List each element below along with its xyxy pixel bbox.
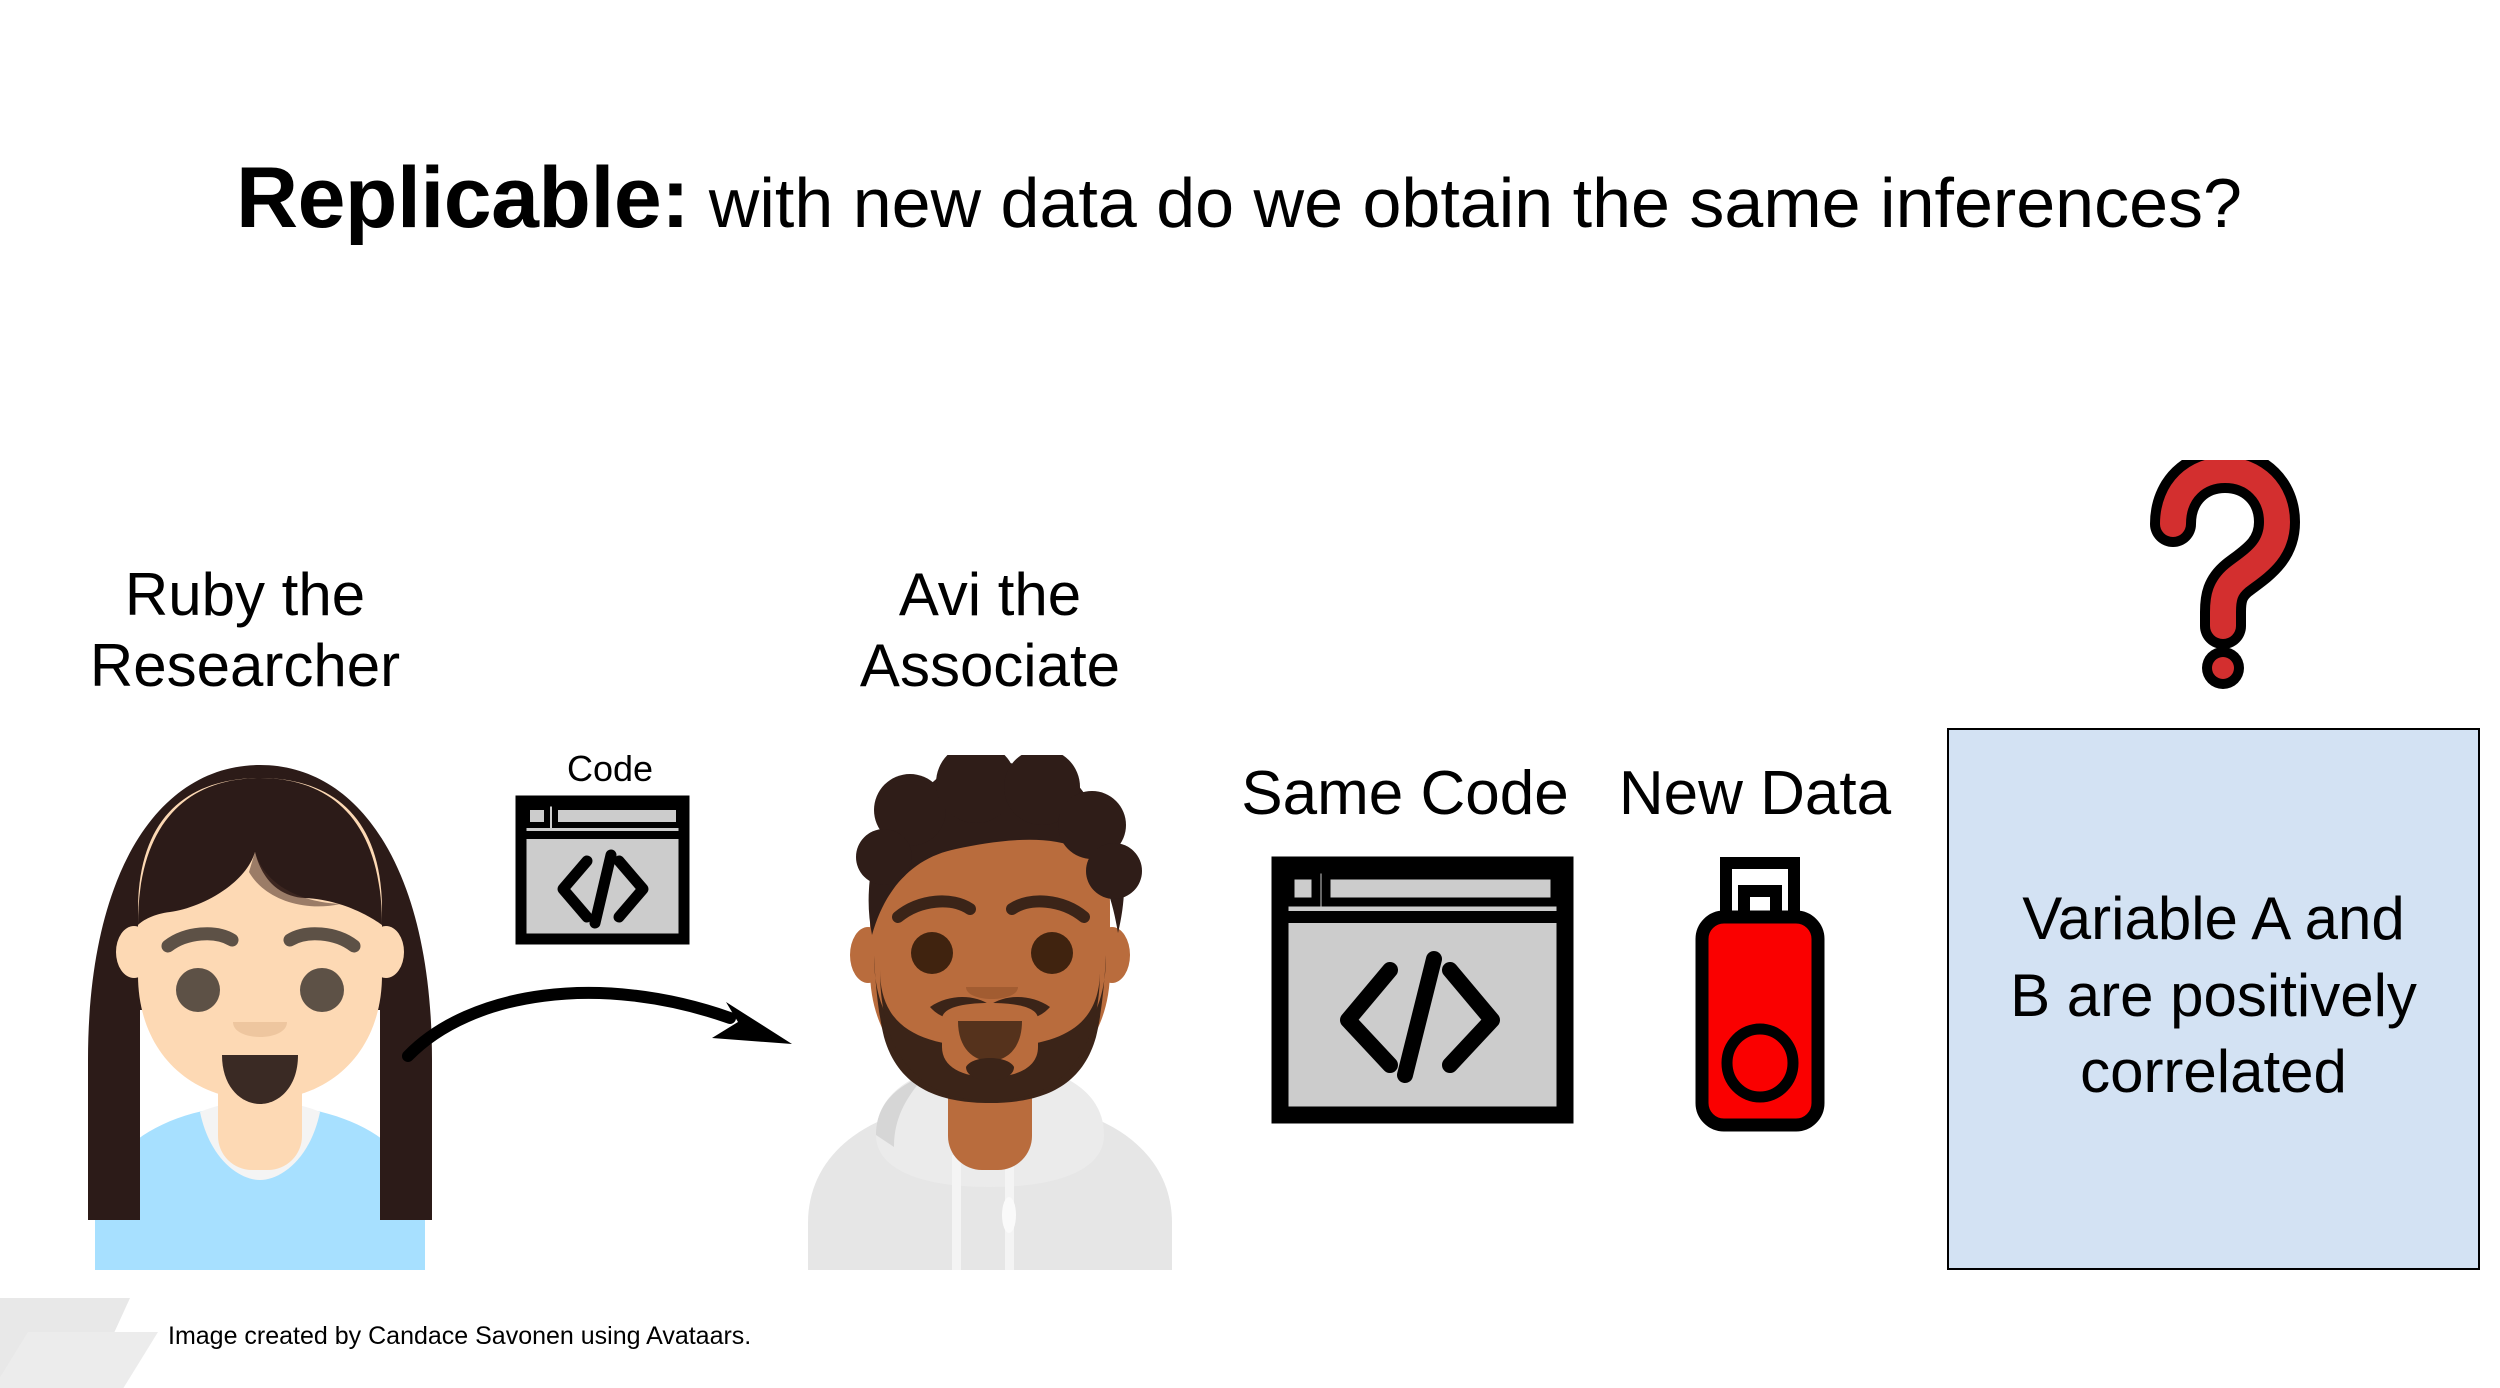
conclusion-text: Variable A and B are positively correlat…	[2010, 881, 2417, 1117]
person-label-avi: Avi the Associate	[760, 560, 1220, 702]
parallelogram-watermark	[0, 1290, 180, 1388]
caption-same-code: Same Code	[1230, 758, 1580, 829]
caption-new-data: New Data	[1590, 758, 1920, 829]
caption-code: Code	[500, 748, 720, 790]
question-mark-icon	[2145, 460, 2300, 690]
footer-credit: Image created by Candace Savonen using A…	[168, 1322, 751, 1351]
page-title-emphasis: Replicable:	[236, 150, 689, 246]
code-window-icon-small	[515, 795, 690, 945]
slide-canvas: Replicable: with new data do we obtain t…	[0, 0, 2500, 1388]
page-title-question: with new data do we obtain the same infe…	[689, 164, 2242, 242]
usb-drive-icon	[1690, 855, 1830, 1135]
avatar-avi	[780, 755, 1200, 1270]
curved-arrow-icon	[400, 960, 820, 1090]
conclusion-box: Variable A and B are positively correlat…	[1947, 728, 2480, 1270]
code-window-icon-large	[1270, 855, 1575, 1125]
page-title: Replicable: with new data do we obtain t…	[236, 155, 2306, 241]
person-label-ruby: Ruby the Researcher	[20, 560, 470, 702]
